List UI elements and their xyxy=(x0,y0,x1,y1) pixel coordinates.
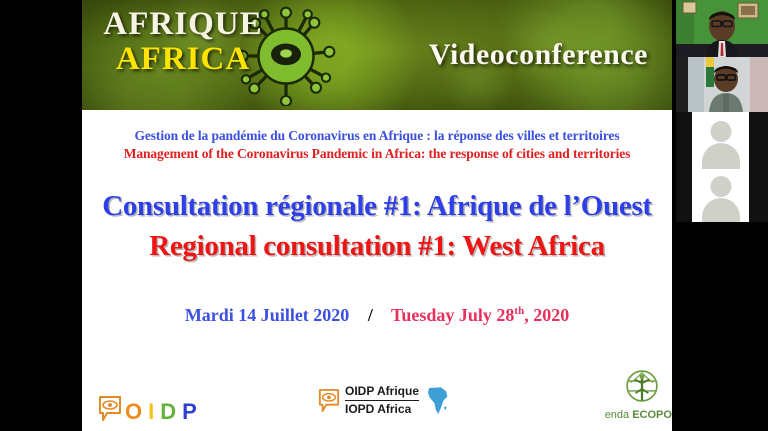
enda-word: enda xyxy=(605,409,633,421)
logo-oidp-africa: OIDP Afrique IOPD Africa xyxy=(318,385,450,417)
oidp-africa-line2: IOPD Africa xyxy=(345,403,419,417)
avatar-tile-strip xyxy=(692,112,749,222)
date-separator: / xyxy=(368,305,373,325)
shared-presentation-slide: AFRIQUE AFRICA Videoconference Gestion d… xyxy=(82,0,672,431)
participant-video-1 xyxy=(676,0,768,57)
brand-line-africa: AFRICA xyxy=(98,43,268,76)
speech-bubble-eye-icon xyxy=(98,395,122,423)
videoconference-label: Videoconference xyxy=(429,38,648,72)
participant-tile-3[interactable] xyxy=(692,112,749,167)
enda-ecopop-tree-icon xyxy=(625,369,659,403)
logo-enda-ecopop: enda ECOPOP xyxy=(587,369,672,421)
videoconference-screen: AFRIQUE AFRICA Videoconference Gestion d… xyxy=(0,0,768,431)
subtitle-english: Management of the Coronavirus Pandemic i… xyxy=(82,146,672,163)
oidp-africa-text: OIDP Afrique IOPD Africa xyxy=(345,385,419,417)
participant-tile-1[interactable] xyxy=(676,0,768,57)
oidp-letters: OIDP xyxy=(125,401,203,423)
participant-avatar-tiles xyxy=(676,112,768,222)
africa-map-icon xyxy=(424,386,450,416)
date-english-suffix: , 2020 xyxy=(524,305,569,325)
title-french: Consultation régionale #1: Afrique de l’… xyxy=(82,189,672,223)
speech-bubble-eye-icon xyxy=(318,388,340,414)
slide-date-line: Mardi 14 Juillet 2020 / Tuesday July 28t… xyxy=(82,305,672,326)
date-english-prefix: Tuesday July 28 xyxy=(391,305,514,325)
slide-logo-strip: OIDP OIDP Afrique IOPD Africa xyxy=(82,367,672,425)
participant-tile-2[interactable] xyxy=(676,57,768,112)
participant-video-2 xyxy=(676,57,768,112)
event-brand: AFRIQUE AFRICA xyxy=(98,8,268,76)
ecopop-word: ECOPOP xyxy=(632,409,672,421)
title-english: Regional consultation #1: West Africa xyxy=(82,229,672,263)
participant-tile-4[interactable] xyxy=(692,167,749,222)
avatar-head-icon xyxy=(710,176,731,197)
oidp-letter-d: D xyxy=(160,399,182,424)
subtitle-french: Gestion de la pandémie du Coronavirus en… xyxy=(82,128,672,145)
slide-subtitle: Gestion de la pandémie du Coronavirus en… xyxy=(82,128,672,163)
oidp-letter-i: I xyxy=(148,399,160,424)
slide-banner: AFRIQUE AFRICA Videoconference xyxy=(82,0,672,110)
avatar-body-icon xyxy=(702,143,740,169)
date-french: Mardi 14 Juillet 2020 xyxy=(185,305,350,325)
logo-oidp: OIDP xyxy=(98,395,203,423)
avatar-head-icon xyxy=(710,121,731,142)
avatar-body-icon xyxy=(702,198,740,222)
oidp-letter-o: O xyxy=(125,399,148,424)
oidp-africa-line1: OIDP Afrique xyxy=(345,385,419,401)
date-english-superscript: th xyxy=(514,305,524,317)
date-english: Tuesday July 28th, 2020 xyxy=(391,305,569,325)
brand-line-afrique: AFRIQUE xyxy=(98,8,268,41)
enda-ecopop-label: enda ECOPOP xyxy=(587,409,672,421)
slide-title-block: Consultation régionale #1: Afrique de l’… xyxy=(82,189,672,263)
oidp-letter-p: P xyxy=(182,399,203,424)
